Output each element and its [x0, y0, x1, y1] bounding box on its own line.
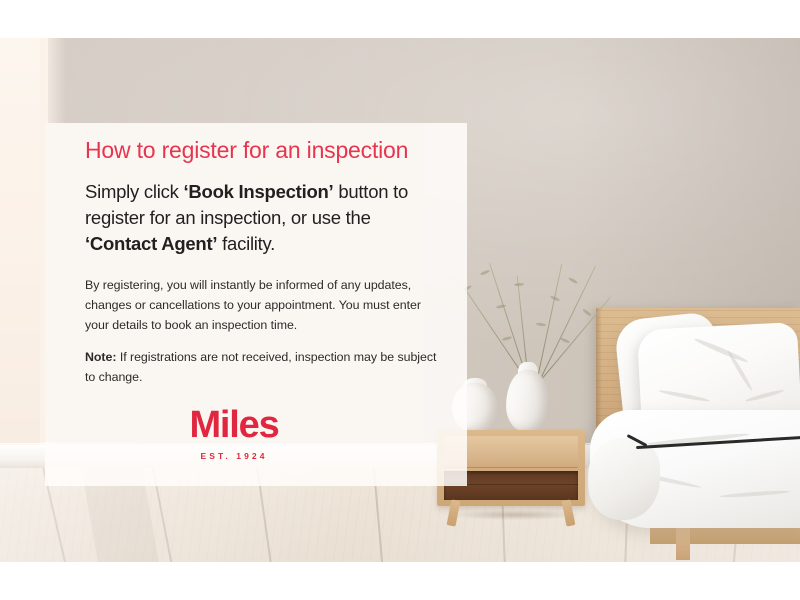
logo-wordmark: Miles	[45, 406, 423, 444]
brand-logo: Miles EST. 1924	[45, 406, 423, 461]
contact-agent-label: ‘Contact Agent’	[85, 233, 217, 254]
branch-foliage	[502, 336, 512, 341]
branch-foliage	[536, 322, 546, 326]
note-text: If registrations are not received, inspe…	[85, 350, 436, 384]
room-photo: How to register for an inspection Simply…	[0, 38, 800, 562]
duvet-crease	[720, 490, 790, 499]
registration-info-paragraph: By registering, you will instantly be in…	[65, 276, 447, 335]
branch-foliage	[582, 308, 592, 317]
lede-text-after: facility.	[217, 233, 275, 254]
lede-paragraph: Simply click ‘Book Inspection’ button to…	[65, 179, 447, 258]
lede-text-before: Simply click	[85, 181, 184, 202]
pillow-crease	[693, 337, 748, 364]
page-title: How to register for an inspection	[65, 137, 447, 165]
branch-foliage	[550, 295, 560, 302]
screenshot-stage: How to register for an inspection Simply…	[0, 0, 800, 600]
branch-foliage	[514, 283, 524, 287]
branch-foliage	[568, 277, 578, 285]
vase-tall	[506, 370, 550, 432]
logo-established-text: EST. 1924	[45, 451, 423, 461]
note-label: Note:	[85, 350, 116, 364]
note-paragraph: Note: If registrations are not received,…	[65, 348, 447, 387]
book-inspection-label: ‘Book Inspection’	[184, 181, 334, 202]
pillow-crease	[659, 389, 711, 403]
branch-foliage	[480, 269, 490, 276]
branch-foliage	[560, 337, 570, 344]
